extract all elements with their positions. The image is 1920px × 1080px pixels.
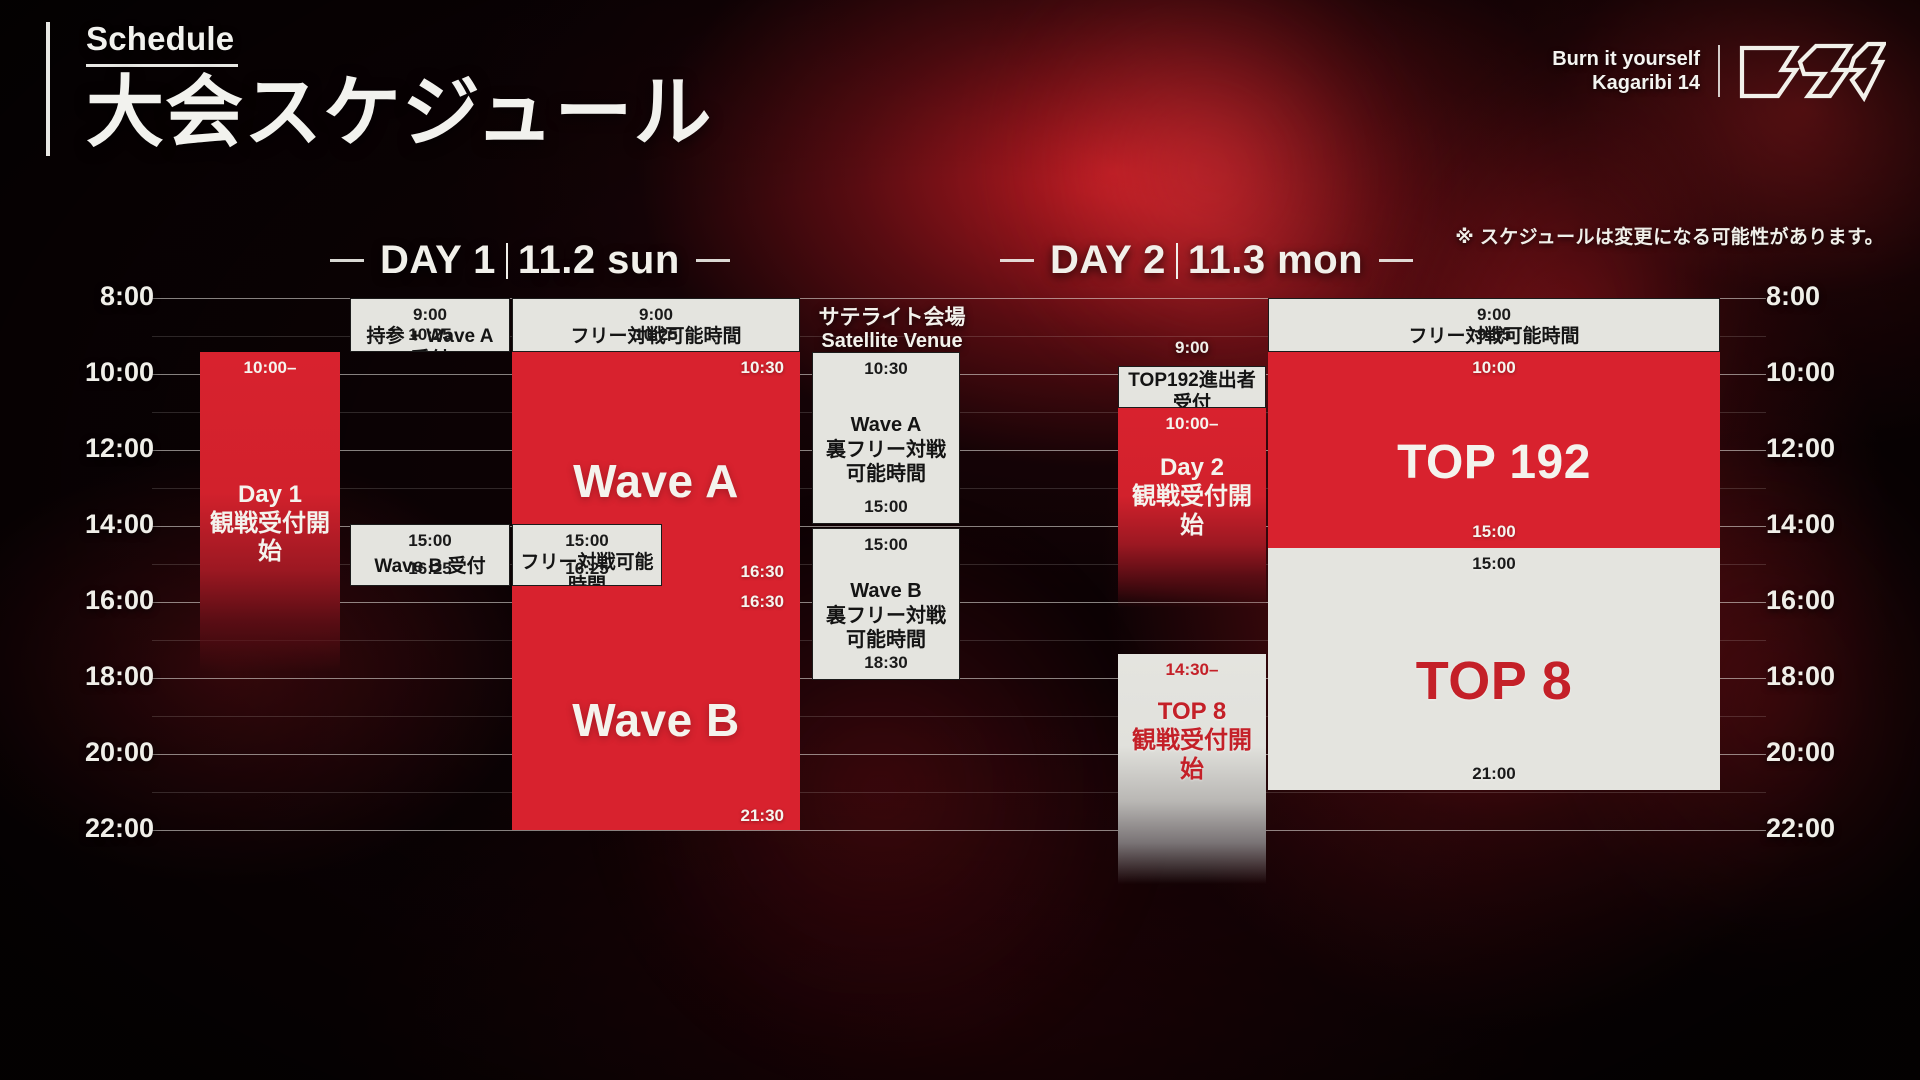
block-subtitle: 裏フリー対戦可能時間 — [819, 604, 953, 654]
block-day1-reception[interactable]: 10:00– Day 1 観戦受付開始 — [200, 352, 340, 672]
block-day1-free-pm[interactable]: 15:00 フリー対戦可能時間 16:25 — [512, 524, 662, 586]
block-subtitle: 観戦受付開始 — [206, 510, 334, 568]
block-end-time: 9:55 — [1477, 326, 1511, 343]
axis-tick-left: 12:00 — [85, 433, 154, 464]
block-end-time: 16:30 — [741, 563, 784, 580]
block-start-time: 14:30– — [1166, 661, 1219, 678]
axis-tick-left: 10:00 — [85, 357, 154, 388]
block-day2-top8[interactable]: 15:00 TOP 8 21:00 — [1268, 548, 1720, 790]
day-header-2: DAY 211.3 mon — [1000, 238, 1413, 283]
block-body: Wave B — [512, 610, 800, 830]
block-start-time: 15:00 — [565, 532, 608, 549]
block-title: Day 2 — [1160, 454, 1224, 483]
axis-tick-left: 22:00 — [85, 813, 154, 844]
block-day2-checkin-start-time: 9:00 — [1118, 338, 1266, 358]
block-start-time: 9:00 — [413, 306, 447, 323]
block-body: TOP 8 観戦受付開始 — [1118, 678, 1266, 884]
axis-tick-left: 20:00 — [85, 737, 154, 768]
gridline-minor — [152, 792, 1766, 793]
title-block: Schedule 大会スケジュール — [46, 22, 713, 156]
block-start-time: 16:30 — [741, 593, 784, 610]
block-body: Day 1 観戦受付開始 — [200, 376, 340, 672]
block-subtitle: 観戦受付開始 — [1124, 727, 1260, 785]
block-body: TOP 8 — [1268, 572, 1720, 790]
block-end-time: 15:00 — [1472, 523, 1515, 540]
block-subtitle: 裏フリー対戦可能時間 — [819, 438, 953, 488]
axis-tick-right: 12:00 — [1766, 433, 1835, 464]
satellite-venue-header: サテライト会場 Satellite Venue — [812, 306, 972, 354]
block-title: TOP 8 — [1416, 650, 1573, 712]
brand-divider — [1718, 45, 1720, 97]
schedule-disclaimer: ※ スケジュールは変更になる可能性があります。 — [1455, 222, 1884, 249]
title-divider — [86, 64, 238, 67]
block-start-time: 10:00– — [244, 359, 297, 376]
block-title: TOP 192 — [1397, 435, 1591, 490]
block-day2-reception[interactable]: 10:00– Day 2 観戦受付開始 — [1118, 408, 1266, 608]
block-end-time: 10:25 — [408, 326, 451, 343]
day-header-1: DAY 111.2 sun — [330, 238, 730, 283]
brand-text: Burn it yourself Kagaribi 14 — [1552, 47, 1700, 96]
axis-tick-right: 20:00 — [1766, 737, 1835, 768]
block-day2-free-am[interactable]: 9:00 フリー対戦可能時間 9:55 — [1268, 298, 1720, 352]
axis-tick-left: 16:00 — [85, 585, 154, 616]
block-day2-top192-checkin[interactable]: TOP192進出者 受付 — [1118, 366, 1266, 408]
axis-tick-right: 16:00 — [1766, 585, 1835, 616]
block-title: Wave A — [573, 454, 739, 508]
block-title: TOP 8 — [1158, 698, 1226, 727]
brand-lockup: Burn it yourself Kagaribi 14 — [1552, 40, 1886, 102]
block-end-time: 15:00 — [864, 498, 907, 515]
block-start-time: 15:00 — [408, 532, 451, 549]
day-header-dash — [330, 259, 364, 262]
axis-tick-right: 8:00 — [1766, 281, 1820, 312]
axis-tick-left: 8:00 — [100, 281, 154, 312]
day-header-dash — [696, 259, 730, 262]
block-end-time: 21:30 — [741, 807, 784, 824]
block-day2-top192[interactable]: 10:00 TOP 192 15:00 — [1268, 352, 1720, 548]
block-body: Day 2 観戦受付開始 — [1118, 432, 1266, 608]
block-title: Wave A — [851, 413, 922, 438]
brand-name: Kagaribi 14 — [1552, 71, 1700, 95]
page-title: 大会スケジュール — [86, 69, 713, 156]
block-day1-waveB[interactable]: 16:30 Wave B 21:30 — [512, 586, 800, 830]
block-satellite-waveB-free[interactable]: 15:00 Wave B 裏フリー対戦可能時間 18:30 — [812, 528, 960, 680]
axis-tick-right: 14:00 — [1766, 509, 1835, 540]
block-satellite-waveA-free[interactable]: 10:30 Wave A 裏フリー対戦可能時間 15:00 — [812, 352, 960, 524]
block-end-time: 16:25 — [408, 560, 451, 577]
gridline-major — [152, 830, 1766, 831]
block-day1-checkin-waveA[interactable]: 9:00 持参 + Wave A 受付 10:25 — [350, 298, 510, 352]
block-start-time: 10:00– — [1166, 415, 1219, 432]
block-end-time: 10:25 — [634, 326, 677, 343]
satellite-venue-en: Satellite Venue — [812, 330, 972, 353]
block-subtitle: 観戦受付開始 — [1124, 483, 1260, 541]
block-body: TOP192進出者 受付 — [1119, 367, 1265, 408]
block-end-time: 16:25 — [565, 560, 608, 577]
block-end-time: 18:30 — [864, 654, 907, 671]
axis-tick-left: 18:00 — [85, 661, 154, 692]
satellite-venue-jp: サテライト会場 — [812, 306, 972, 330]
block-end-time: 21:00 — [1472, 765, 1515, 782]
block-start-time: 15:00 — [1472, 555, 1515, 572]
block-day1-free-am[interactable]: 9:00 フリー対戦可能時間 10:25 — [512, 298, 800, 352]
day-header-text-2: DAY 211.3 mon — [1050, 238, 1363, 283]
axis-tick-right: 18:00 — [1766, 661, 1835, 692]
block-start-time: 10:30 — [864, 360, 907, 377]
block-title: Wave B — [850, 579, 922, 604]
block-title: TOP192進出者 受付 — [1125, 369, 1259, 408]
block-start-time: 9:00 — [639, 306, 673, 323]
day-header-dash — [1379, 259, 1413, 262]
block-day2-top8-reception[interactable]: 14:30– TOP 8 観戦受付開始 — [1118, 654, 1266, 884]
brand-tagline: Burn it yourself — [1552, 47, 1700, 71]
schedule-timeline: 8:008:0010:0010:0012:0012:0014:0014:0016… — [0, 276, 1920, 976]
block-day1-checkin-waveB[interactable]: 15:00 Wave B 受付 16:25 — [350, 524, 510, 586]
day-header-text-1: DAY 111.2 sun — [380, 238, 680, 283]
kagaribi-logo-icon — [1738, 40, 1886, 102]
block-start-time: 10:30 — [741, 359, 784, 376]
day-header-dash — [1000, 259, 1034, 262]
axis-tick-left: 14:00 — [85, 509, 154, 540]
axis-tick-right: 22:00 — [1766, 813, 1835, 844]
block-title: Day 1 — [238, 481, 302, 510]
block-title: Wave B — [572, 693, 739, 747]
page-eyebrow: Schedule — [86, 22, 713, 57]
axis-tick-right: 10:00 — [1766, 357, 1835, 388]
block-start-time: 10:00 — [1472, 359, 1515, 376]
page-header: Schedule 大会スケジュール Burn it yourself Kagar… — [0, 0, 1920, 230]
block-start-time: 15:00 — [864, 536, 907, 553]
block-start-time: 9:00 — [1477, 306, 1511, 323]
